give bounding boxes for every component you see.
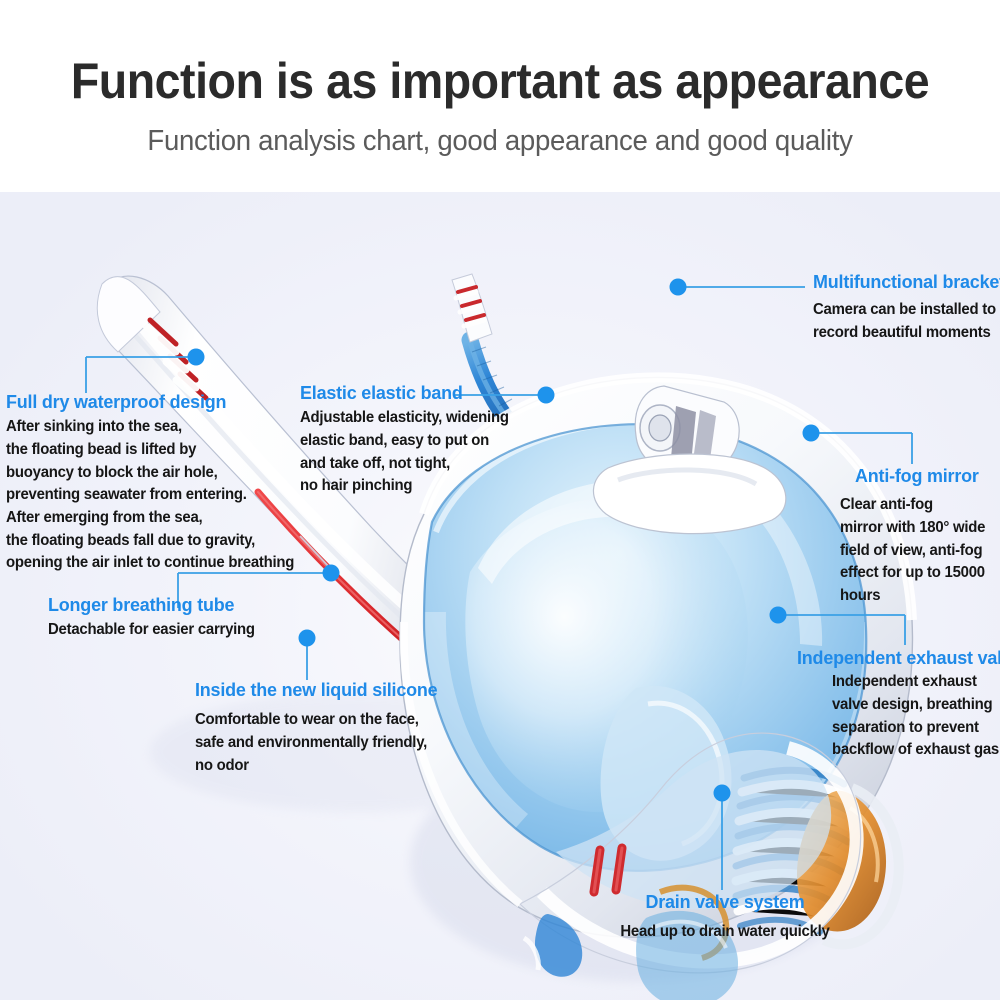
page-title: Function is as important as appearance [35, 52, 965, 110]
annotation-body: Comfortable to wear on the face, safe an… [195, 709, 476, 777]
annotation-heading: Multifunctional bracket [813, 272, 997, 292]
annotation-body: Adjustable elasticity, widening elastic … [300, 407, 523, 498]
annotation-body: Detachable for easier carrying [48, 619, 339, 642]
annotation-longer-breathing-tube: Longer breathing tube Detachable for eas… [48, 595, 348, 642]
annotation-multifunctional-bracket: Multifunctional bracket Camera can be in… [813, 272, 1000, 345]
annotation-body: Head up to drain water quickly [584, 921, 865, 944]
annotation-body: Independent exhaust valve design, breath… [832, 671, 1000, 762]
annotation-body: Clear anti-fog mirror with 180° wide fie… [840, 494, 1000, 607]
annotation-anti-fog-mirror: Anti-fog mirror Clear anti-fog mirror wi… [855, 466, 1000, 608]
header-band: Function is as important as appearance F… [0, 0, 1000, 192]
annotation-inside-the-new-liquid-silicone: Inside the new liquid silicone Comfortab… [195, 680, 485, 777]
annotation-body: Camera can be installed to record beauti… [813, 299, 997, 344]
annotation-independent-exhaust-valve: Independent exhaust valve Independent ex… [797, 648, 1000, 762]
annotation-heading: Independent exhaust valve [797, 648, 1000, 668]
annotation-drain-valve-system: Drain valve system Head up to drain wate… [580, 892, 870, 944]
annotation-heading: Drain valve system [584, 892, 865, 912]
annotation-body: After sinking into the sea, the floating… [6, 416, 326, 574]
annotation-full-dry-waterproof-design: Full dry waterproof design After sinking… [6, 392, 336, 575]
page-subtitle: Function analysis chart, good appearance… [25, 125, 975, 158]
annotation-heading: Inside the new liquid silicone [195, 680, 476, 700]
annotation-heading: Anti-fog mirror [855, 466, 1000, 486]
annotation-heading: Longer breathing tube [48, 595, 339, 615]
annotation-elastic-elastic-band: Elastic elastic band Adjustable elastici… [300, 383, 530, 498]
annotation-heading: Elastic elastic band [300, 383, 523, 403]
infographic-page: Function is as important as appearance F… [0, 0, 1000, 1000]
annotation-heading: Full dry waterproof design [6, 392, 326, 412]
